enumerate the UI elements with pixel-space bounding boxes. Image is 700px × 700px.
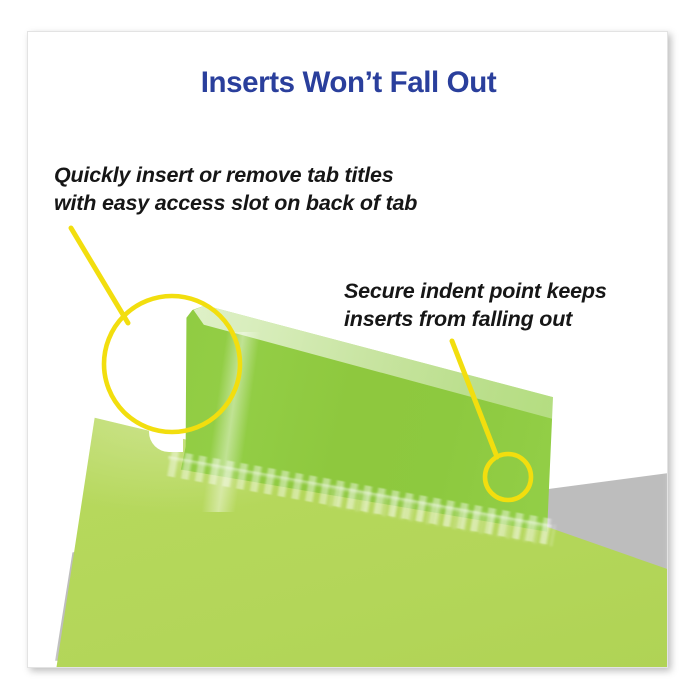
callout-indent-point-line2: inserts from falling out <box>344 305 607 333</box>
product-marketing-image: Inserts Won’t Fall Out Quickly insert or… <box>0 0 700 700</box>
page-title: Inserts Won’t Fall Out <box>28 66 668 100</box>
product-card: Inserts Won’t Fall Out Quickly insert or… <box>27 31 668 668</box>
callout-access-slot-line1: Quickly insert or remove tab titles <box>54 161 417 189</box>
callout-indent-point: Secure indent point keeps inserts from f… <box>344 277 607 333</box>
tab-access-slot-notch <box>149 392 183 452</box>
product-photo <box>28 32 668 668</box>
callout-access-slot: Quickly insert or remove tab titles with… <box>54 161 417 217</box>
callout-indent-point-line1: Secure indent point keeps <box>344 277 607 305</box>
callout-access-slot-line2: with easy access slot on back of tab <box>54 189 417 217</box>
